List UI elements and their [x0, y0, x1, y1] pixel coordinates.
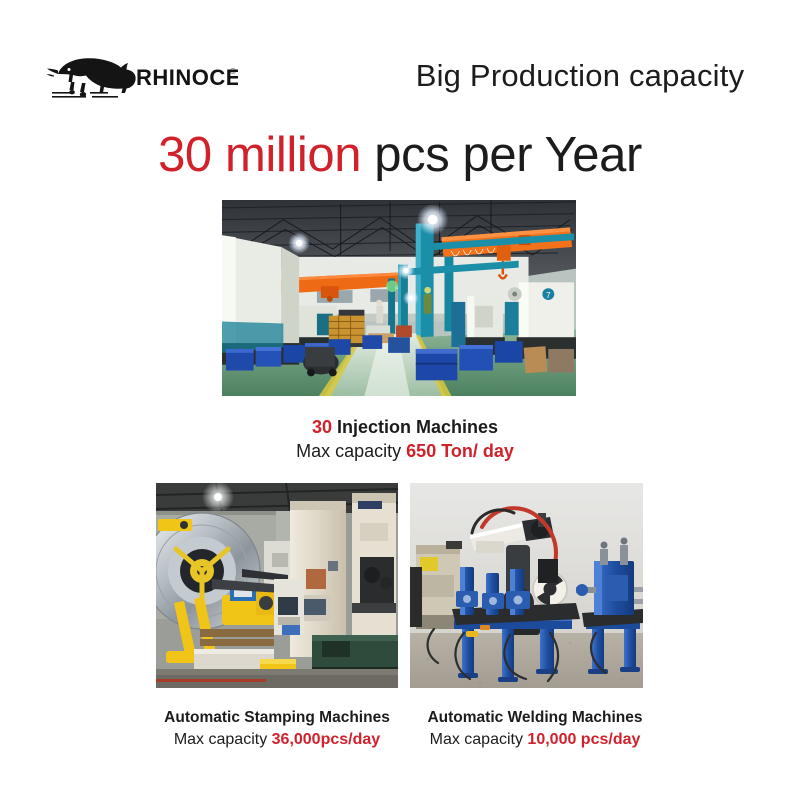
caption-injection-capacity-label: Max capacity — [296, 441, 406, 461]
headline: 30 million pcs per Year — [0, 127, 800, 183]
caption-injection-title: Injection Machines — [332, 417, 498, 437]
caption-stamping-capacity-label: Max capacity — [174, 731, 272, 748]
poster-root: RHINOCEROS ® Big Production capacity 30 … — [0, 0, 800, 800]
headline-highlight: 30 million — [158, 128, 361, 182]
page-title: Big Production capacity — [385, 58, 775, 94]
rhinoceros-silhouette-icon: RHINOCEROS ® — [42, 52, 238, 100]
photo-injection-factory: 7 — [220, 198, 578, 398]
caption-welding-line2: Max capacity 10,000 pcs/day — [390, 728, 680, 751]
caption-welding: Automatic Welding Machines Max capacity … — [390, 707, 680, 751]
caption-injection-line1: 30 Injection Machines — [205, 415, 605, 439]
caption-stamping-line1: Automatic Stamping Machines — [132, 707, 422, 728]
logo-wordmark: RHINOCEROS — [136, 65, 238, 90]
headline-rest: pcs per Year — [361, 128, 642, 182]
rhinoceros-logo: RHINOCEROS ® — [42, 52, 238, 100]
photo-welding-cell — [410, 483, 643, 688]
caption-welding-capacity-label: Max capacity — [430, 731, 528, 748]
svg-text:7: 7 — [546, 291, 550, 300]
photo-stamping-machine — [156, 483, 398, 688]
caption-stamping: Automatic Stamping Machines Max capacity… — [132, 707, 422, 751]
caption-injection-count: 30 — [312, 417, 332, 437]
caption-injection: 30 Injection Machines Max capacity 650 T… — [205, 415, 605, 464]
logo-registered-mark: ® — [230, 67, 236, 76]
caption-stamping-capacity-value: 36,000pcs/day — [272, 731, 381, 748]
caption-welding-capacity-value: 10,000 pcs/day — [527, 731, 640, 748]
caption-injection-capacity-value: 650 Ton/ day — [406, 441, 514, 461]
caption-stamping-line2: Max capacity 36,000pcs/day — [132, 728, 422, 751]
caption-welding-line1: Automatic Welding Machines — [390, 707, 680, 728]
caption-injection-line2: Max capacity 650 Ton/ day — [205, 439, 605, 464]
header: RHINOCEROS ® Big Production capacity — [0, 0, 800, 115]
